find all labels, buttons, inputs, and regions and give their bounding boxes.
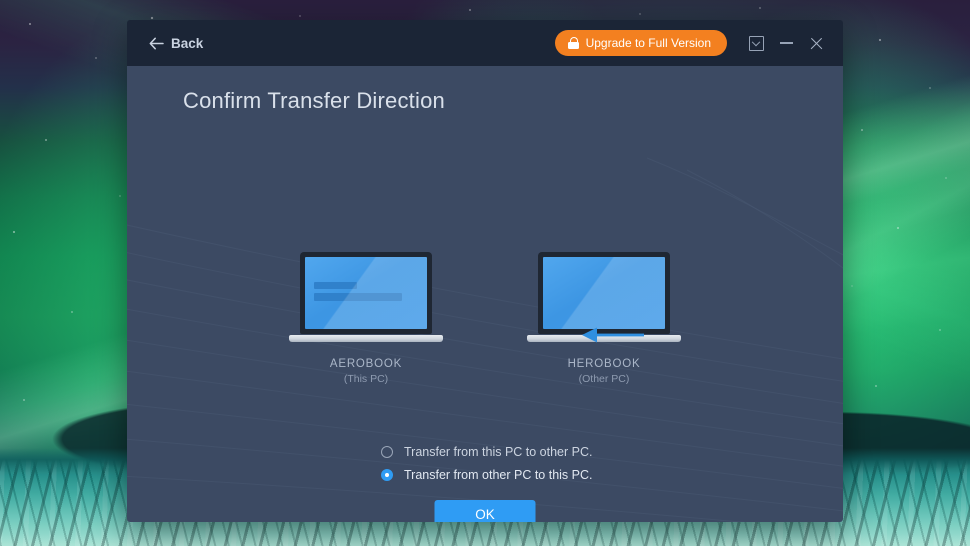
minimize-icon [780, 42, 793, 43]
upgrade-button-label: Upgrade to Full Version [586, 36, 711, 50]
restore-window-icon [749, 36, 764, 51]
laptop-icon [289, 252, 443, 342]
radio-option-other-to-this[interactable]: Transfer from other PC to this PC. [381, 468, 589, 482]
close-icon [809, 36, 824, 51]
device-this-pc[interactable]: AEROBOOK (This PC) [283, 252, 449, 385]
radio-option-this-to-other[interactable]: Transfer from this PC to other PC. [381, 445, 589, 459]
laptop-base [289, 335, 443, 342]
restore-window-button[interactable] [741, 26, 771, 60]
ok-button[interactable]: OK [435, 500, 536, 522]
device-role: (This PC) [344, 373, 388, 385]
device-name: AEROBOOK [330, 358, 402, 370]
close-window-button[interactable] [801, 26, 831, 60]
radio-indicator-selected [381, 469, 393, 481]
app-window: Back Upgrade to Full Version [127, 20, 843, 522]
screen-shine [305, 257, 427, 329]
radio-option-label: Transfer from other PC to this PC. [404, 468, 592, 482]
laptop-lid [300, 252, 432, 334]
back-button-label: Back [171, 36, 203, 51]
transfer-direction-arrow-icon [582, 326, 644, 344]
radio-indicator [381, 446, 393, 458]
window-body: Confirm Transfer Direction [127, 66, 843, 522]
device-other-pc[interactable]: HEROBOOK (Other PC) [521, 252, 687, 385]
back-button[interactable]: Back [145, 32, 207, 55]
screen-shine [543, 257, 665, 329]
device-name: HEROBOOK [568, 358, 641, 370]
title-bar: Back Upgrade to Full Version [127, 20, 843, 66]
radio-option-label: Transfer from this PC to other PC. [404, 445, 592, 459]
desktop-wallpaper: Back Upgrade to Full Version [0, 0, 970, 546]
minimize-window-button[interactable] [771, 26, 801, 60]
transfer-direction-options: Transfer from this PC to other PC. Trans… [127, 445, 843, 482]
laptop-lid [538, 252, 670, 334]
devices-row: AEROBOOK (This PC) HEROBOOK (Other PC) [127, 252, 843, 385]
laptop-screen [305, 257, 427, 329]
lock-icon [568, 37, 579, 49]
page-title: Confirm Transfer Direction [183, 88, 445, 114]
device-role: (Other PC) [579, 373, 630, 385]
laptop-screen [543, 257, 665, 329]
upgrade-to-full-version-button[interactable]: Upgrade to Full Version [555, 30, 727, 56]
arrow-left-icon [149, 37, 164, 50]
